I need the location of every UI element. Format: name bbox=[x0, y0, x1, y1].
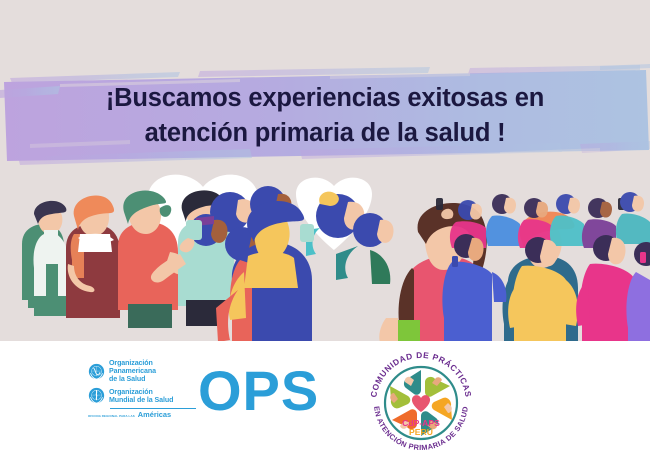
who-row: Organización Mundial de la Salud bbox=[88, 387, 196, 404]
paho-region-block: OFICINA REGIONAL PARA LAS Américas bbox=[88, 410, 196, 419]
paho-name-block: Organización Panamericana de la Salud bbox=[109, 359, 156, 383]
poster-canvas: ¡Buscamos experiencias exitosas en atenc… bbox=[0, 0, 650, 453]
community-hands-heart-circle-icon: CdP-APS PERÚ COMUNIDAD DE PRÁCTICAS EN A… bbox=[366, 346, 476, 450]
who-name-block: Organización Mundial de la Salud bbox=[109, 388, 173, 404]
cdp-aps-peru-logo: CdP-APS PERÚ COMUNIDAD DE PRÁCTICAS EN A… bbox=[366, 346, 476, 450]
ops-wordmark: OPS bbox=[198, 363, 319, 419]
who-line-2: Mundial de la Salud bbox=[109, 396, 173, 404]
heart-icon bbox=[412, 395, 430, 412]
people-crowd-graphic bbox=[0, 168, 650, 342]
footer-bar: Organización Panamericana de la Salud bbox=[0, 341, 650, 453]
page-title: ¡Buscamos experiencias exitosas en atenc… bbox=[0, 64, 650, 168]
paho-line-2: Panamericana bbox=[109, 367, 156, 375]
who-rod-of-asclepius-seal-icon bbox=[88, 387, 105, 404]
headline-line-2: atención primaria de la salud ! bbox=[145, 117, 506, 151]
globe-laurel-seal-icon bbox=[88, 363, 105, 380]
headline-banner: ¡Buscamos experiencias exitosas en atenc… bbox=[0, 64, 650, 168]
paho-line-1: Organización bbox=[109, 359, 156, 367]
paho-divider-rule bbox=[110, 408, 196, 409]
paho-row: Organización Panamericana de la Salud bbox=[88, 359, 196, 383]
paho-region-name: Américas bbox=[138, 410, 171, 419]
cdp-center-line-2: PERÚ bbox=[409, 426, 433, 437]
who-line-1: Organización bbox=[109, 388, 173, 396]
paho-region-tagline: OFICINA REGIONAL PARA LAS bbox=[88, 414, 135, 418]
paho-line-3: de la Salud bbox=[109, 375, 156, 383]
headline-line-1: ¡Buscamos experiencias exitosas en bbox=[106, 82, 544, 116]
people-illustration bbox=[0, 168, 650, 342]
paho-who-logo: Organización Panamericana de la Salud bbox=[88, 359, 196, 421]
